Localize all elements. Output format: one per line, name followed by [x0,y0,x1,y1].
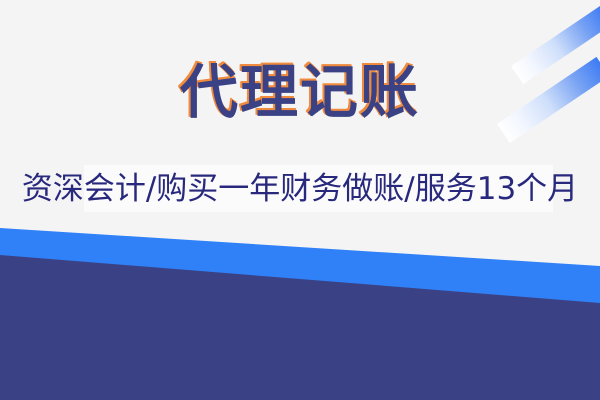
banner-subtitle: 资深会计/购买一年财务做账/服务13个月 [22,170,578,208]
banner-headline: 代理记账 [180,62,420,123]
subtitle-container: 资深会计/购买一年财务做账/服务13个月 [0,170,600,208]
promotional-banner: 代理记账 资深会计/购买一年财务做账/服务13个月 [0,0,600,400]
headline-container: 代理记账 [0,62,600,123]
